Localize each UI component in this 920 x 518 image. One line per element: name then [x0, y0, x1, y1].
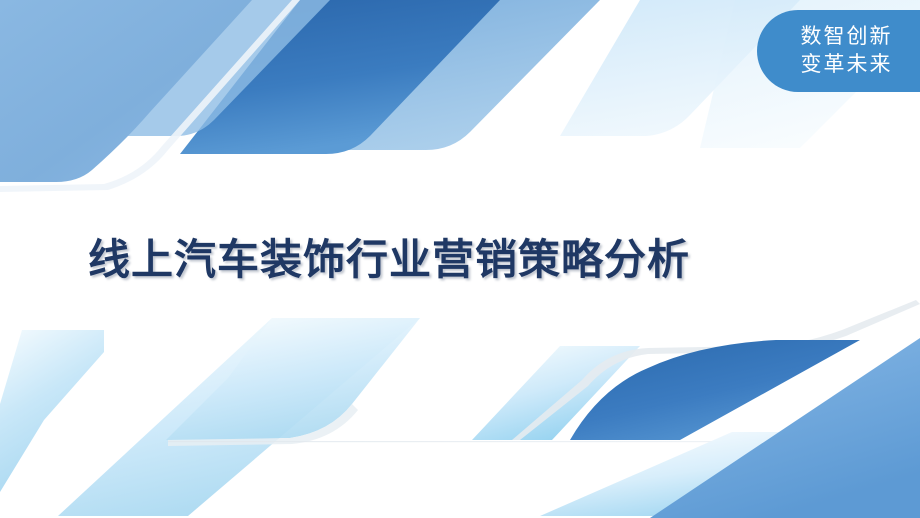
page-title: 线上汽车装饰行业营销策略分析 — [88, 237, 690, 283]
title-block: 线上汽车装饰行业营销策略分析 — [88, 230, 788, 290]
title-slide: 线上汽车装饰行业营销策略分析 数智创新 变革未来 — [0, 0, 920, 518]
badge-line-2: 变革未来 — [801, 51, 893, 79]
status-badge: 数智创新 变革未来 — [757, 10, 920, 92]
badge-line-1: 数智创新 — [801, 23, 893, 51]
bottom-left-pale-shelf — [166, 318, 420, 440]
bottom-left-pale-wing — [0, 330, 104, 492]
